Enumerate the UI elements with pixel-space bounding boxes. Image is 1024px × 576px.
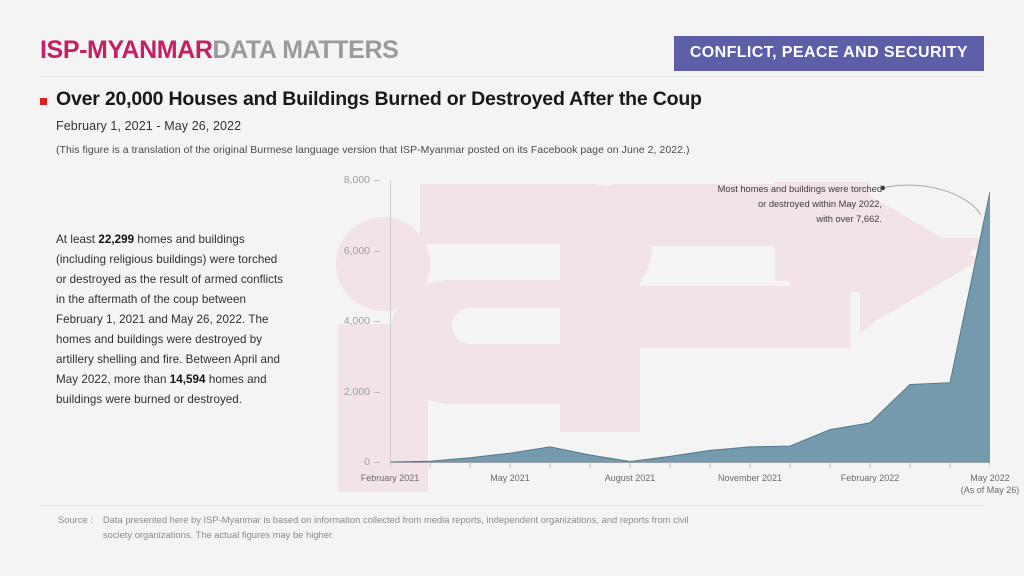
y-axis-tick-label: 8,000 bbox=[344, 174, 370, 186]
annotation-line-1: Most homes and buildings were torched bbox=[718, 182, 882, 197]
source-divider bbox=[40, 505, 984, 506]
chart-annotation: Most homes and buildings were torched or… bbox=[718, 182, 882, 227]
x-axis-tick-label-main: February 2021 bbox=[361, 472, 420, 484]
x-axis-tick-label-main: May 2021 bbox=[490, 472, 530, 484]
y-axis-tick-label: 4,000 bbox=[344, 315, 370, 327]
x-axis-tick-label-main: May 2022 bbox=[961, 472, 1020, 484]
x-axis-tick-label-sub: (As of May 26) bbox=[961, 484, 1020, 496]
x-axis-tick-label-main: August 2021 bbox=[605, 472, 656, 484]
x-axis-tick-label: May 2022(As of May 26) bbox=[961, 472, 1020, 496]
x-axis-tick-label: May 2021 bbox=[490, 472, 530, 484]
y-axis-tick-mark bbox=[374, 180, 380, 181]
page-title: Over 20,000 Houses and Buildings Burned … bbox=[40, 88, 702, 110]
area-chart: 02,0004,0006,0008,000 Most homes and bui… bbox=[320, 172, 1010, 492]
x-axis-tick-label: November 2021 bbox=[718, 472, 782, 484]
title-bullet-icon bbox=[40, 98, 47, 105]
x-axis-tick-label: February 2021 bbox=[361, 472, 420, 484]
annotation-line-3: with over 7,662. bbox=[718, 212, 882, 227]
topic-badge: CONFLICT, PEACE AND SECURITY bbox=[674, 36, 984, 71]
brand-secondary: DATA MATTERS bbox=[212, 36, 398, 64]
source-text: Data presented here by ISP-Myanmar is ba… bbox=[103, 512, 703, 542]
stat-april-may: 14,594 bbox=[170, 373, 206, 386]
y-axis-tick-mark bbox=[374, 251, 380, 252]
y-axis-tick-label: 2,000 bbox=[344, 386, 370, 398]
narrative-part-1: At least bbox=[56, 233, 98, 246]
page-title-text: Over 20,000 Houses and Buildings Burned … bbox=[56, 88, 702, 110]
chart-plot bbox=[390, 172, 990, 472]
date-range: February 1, 2021 - May 26, 2022 bbox=[56, 119, 241, 133]
x-axis-tick-label-main: November 2021 bbox=[718, 472, 782, 484]
y-axis-tick-mark bbox=[374, 321, 380, 322]
brand-logo: ISP-MYANMARDATA MATTERS bbox=[40, 38, 398, 63]
y-axis-tick-label: 0 bbox=[364, 456, 370, 468]
source-note: Source : Data presented here by ISP-Myan… bbox=[58, 512, 703, 542]
x-axis-tick-label-main: February 2022 bbox=[841, 472, 900, 484]
annotation-line-2: or destroyed within May 2022, bbox=[718, 197, 882, 212]
y-axis-labels: 02,0004,0006,0008,000 bbox=[320, 172, 382, 462]
infographic-page: ISP-MYANMARDATA MATTERS CONFLICT, PEACE … bbox=[0, 0, 1024, 576]
x-axis-tick-label: August 2021 bbox=[605, 472, 656, 484]
brand-primary: ISP-MYANMAR bbox=[40, 36, 212, 64]
source-label: Source : bbox=[58, 512, 93, 542]
narrative-part-2: homes and buildings (including religious… bbox=[56, 233, 283, 386]
y-axis-tick-mark bbox=[374, 462, 380, 463]
translation-note: (This figure is a translation of the ori… bbox=[56, 144, 690, 156]
header-divider bbox=[40, 76, 984, 77]
x-axis-tick-label: February 2022 bbox=[841, 472, 900, 484]
narrative-paragraph: At least 22,299 homes and buildings (inc… bbox=[56, 230, 288, 409]
stat-total-destroyed: 22,299 bbox=[98, 233, 134, 246]
y-axis-tick-mark bbox=[374, 392, 380, 393]
y-axis-tick-label: 6,000 bbox=[344, 245, 370, 257]
